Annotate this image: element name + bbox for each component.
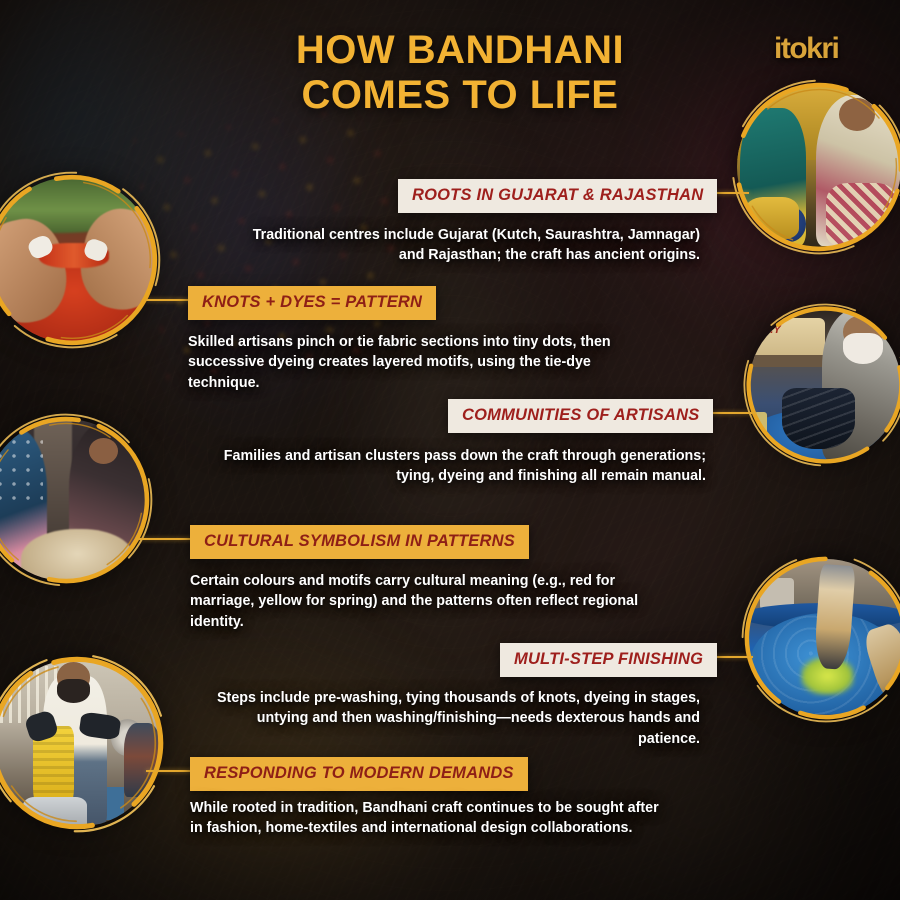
- scene-art: J.Y: [749, 309, 900, 461]
- two-women-tying-fabric-photo: [730, 78, 900, 256]
- section-body-modern-demands: While rooted in tradition, Bandhani craf…: [190, 798, 660, 839]
- man-lifting-yellow-dyed-fabric-photo: [0, 652, 168, 834]
- page-title: HOW BANDHANI COMES TO LIFE: [230, 28, 690, 118]
- scene-art: [0, 177, 155, 343]
- section-label-knots-dyes[interactable]: KNOTS + DYES = PATTERN: [188, 286, 436, 320]
- connector-line: [146, 770, 194, 772]
- photo-image: [0, 659, 161, 827]
- title-line-1: HOW BANDHANI: [296, 28, 624, 72]
- brand-logo-text: itokri: [774, 28, 870, 70]
- artisan-dyeing-blue-vat-photo: J.Y: [742, 302, 900, 468]
- section-label-communities[interactable]: COMMUNITIES OF ARTISANS: [448, 399, 713, 433]
- photo-image: [0, 419, 147, 581]
- section-label-modern-demands[interactable]: RESPONDING TO MODERN DEMANDS: [190, 757, 528, 791]
- photo-image: [0, 177, 155, 343]
- section-body-multi-step-finishing: Steps include pre-washing, tying thousan…: [200, 688, 700, 749]
- scene-art: [737, 85, 900, 249]
- blue-dye-vat-bundles-photo: [740, 552, 900, 724]
- itokri-logo[interactable]: itokri: [774, 28, 870, 70]
- photo-image: [747, 559, 900, 717]
- women-tying-cream-fabric-photo: [0, 412, 154, 588]
- hands-tying-red-fabric-photo: [0, 170, 162, 350]
- section-body-knots-dyes: Skilled artisans pinch or tie fabric sec…: [188, 332, 658, 393]
- section-label-roots[interactable]: ROOTS IN GUJARAT & RAJASTHAN: [398, 179, 717, 213]
- section-body-roots: Traditional centres include Gujarat (Kut…: [230, 225, 700, 266]
- connector-line: [146, 299, 192, 301]
- title-line-2: COMES TO LIFE: [230, 73, 690, 118]
- section-body-communities: Families and artisan clusters pass down …: [200, 446, 706, 487]
- section-label-cultural-symbolism[interactable]: CULTURAL SYMBOLISM IN PATTERNS: [190, 525, 529, 559]
- scene-art: [0, 659, 161, 827]
- photo-image: J.Y: [749, 309, 900, 461]
- connector-line: [136, 538, 194, 540]
- scene-art: [0, 419, 147, 581]
- scene-art: [747, 559, 900, 717]
- photo-image: [737, 85, 900, 249]
- photo-sign-text: J.Y: [764, 324, 810, 339]
- section-label-multi-step-finishing[interactable]: MULTI-STEP FINISHING: [500, 643, 717, 677]
- section-body-cultural-symbolism: Certain colours and motifs carry cultura…: [190, 571, 660, 632]
